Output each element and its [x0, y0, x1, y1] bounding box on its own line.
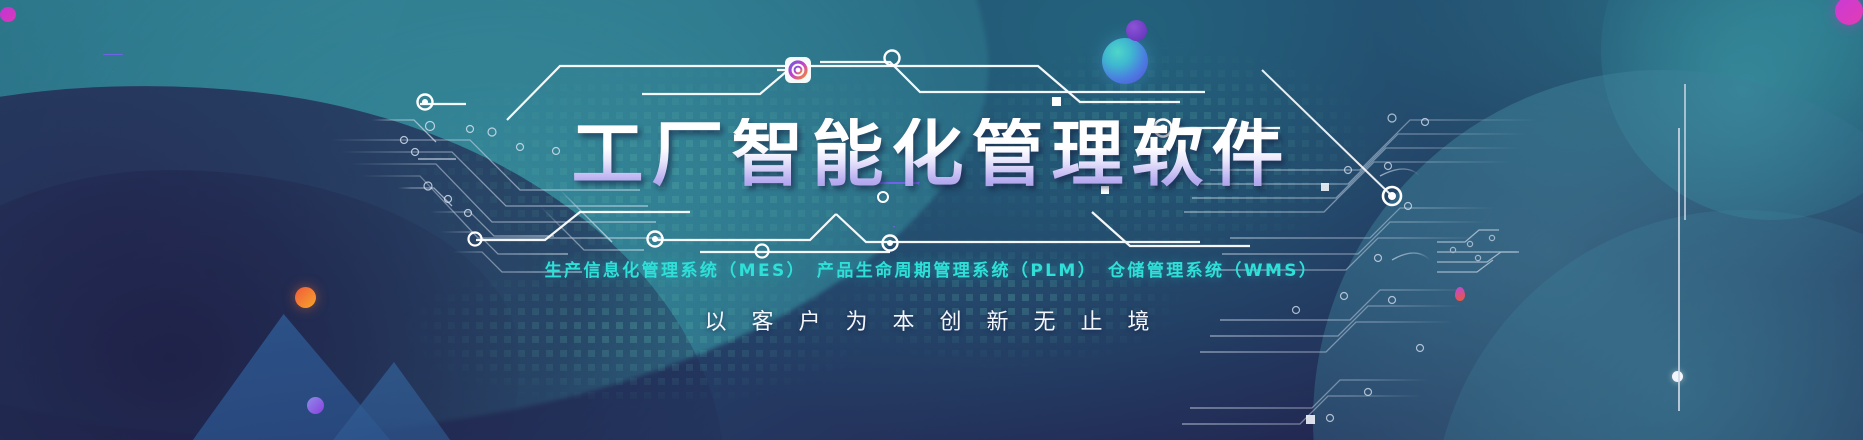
- tagline: 以 客 户 为 本 创 新 无 止 境: [705, 304, 1159, 336]
- subtitle-systems-list: 生产信息化管理系统（MES） 产品生命周期管理系统（PLM） 仓储管理系统（WM…: [545, 256, 1319, 281]
- hero-banner: 工厂智能化管理软件 生产信息化管理系统（MES） 产品生命周期管理系统（PLM）…: [0, 0, 1863, 440]
- page-title: 工厂智能化管理软件: [571, 118, 1291, 190]
- banner-content: 工厂智能化管理软件 生产信息化管理系统（MES） 产品生命周期管理系统（PLM）…: [0, 0, 1863, 440]
